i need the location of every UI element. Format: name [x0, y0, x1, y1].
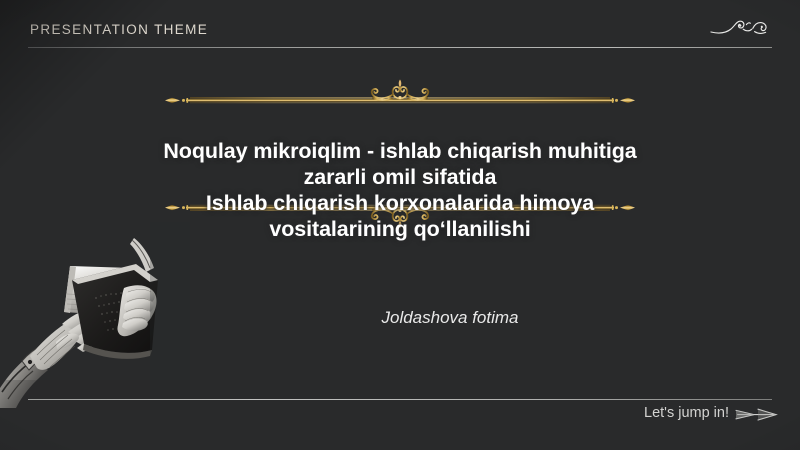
title-line-3: Ishlab chiqarish korxonalarida himoya: [100, 190, 700, 216]
header-divider-rule: [28, 47, 772, 48]
author-subtitle: Joldashova fotima: [150, 308, 750, 328]
presentation-slide: PRESENTATION THEME: [0, 0, 800, 450]
slide-header: PRESENTATION THEME: [28, 22, 772, 54]
decorative-arrow-right-icon: [734, 406, 778, 424]
header-title: PRESENTATION THEME: [30, 22, 208, 37]
title-line-1: Noqulay mikroiqlim - ishlab chiqarish mu…: [100, 138, 700, 164]
gold-ornamental-divider-top: [164, 78, 636, 118]
ornamental-swirl-icon: [710, 15, 772, 39]
title-line-2: zararli omil sifatida: [100, 164, 700, 190]
footer-divider-rule: [28, 399, 772, 400]
title-line-4: vositalarining qo‘llanilishi: [100, 216, 700, 242]
slide-title: Noqulay mikroiqlim - ishlab chiqarish mu…: [100, 138, 700, 242]
footer-call-to-action-label: Let's jump in!: [644, 405, 729, 421]
